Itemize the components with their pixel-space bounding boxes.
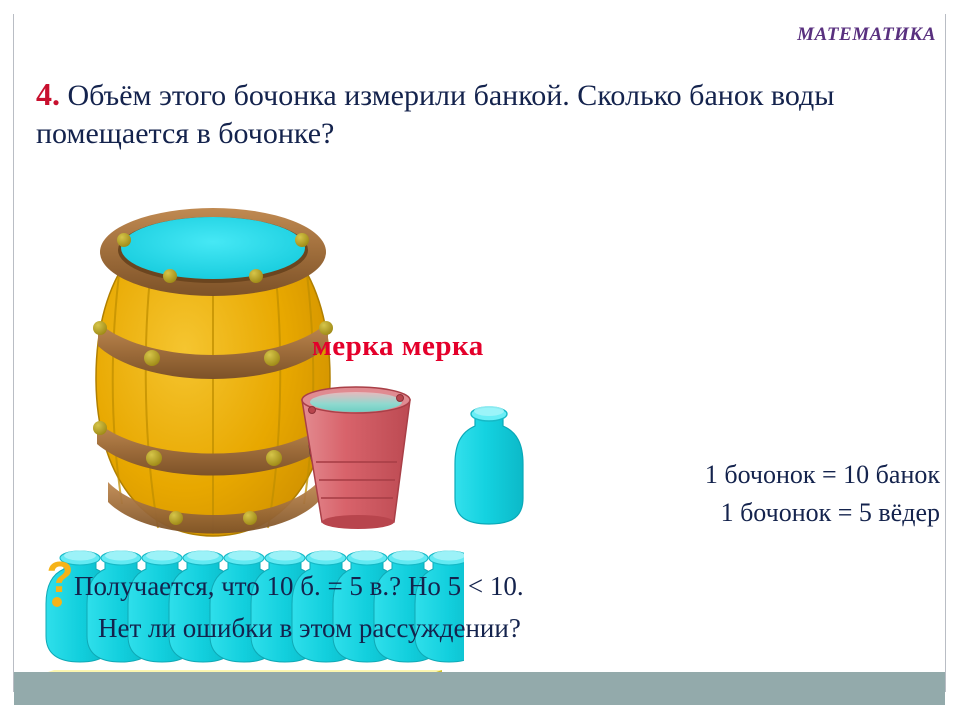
- measure-label: мерка мерка: [312, 330, 484, 363]
- bottom-statement: Получается, что 10 б. = 5 в.? Но 5 < 10.…: [74, 566, 694, 650]
- question-number: 4.: [36, 76, 60, 112]
- question-text: 4. Объём этого бочонка измерили банкой. …: [36, 74, 916, 154]
- slide-border-left: [13, 14, 14, 692]
- page-title: МАТЕМАТИКА: [797, 24, 936, 46]
- jar-icon: [449, 400, 529, 528]
- question-body: Объём этого бочонка измерили банкой. Ско…: [36, 79, 834, 150]
- equation-row: 1 бочонок = 10 банок: [560, 456, 940, 494]
- bucket-icon: [296, 376, 416, 534]
- slide-border-right: [945, 14, 946, 692]
- bottom-statement-line-1: Получается, что 10 б. = 5 в.? Но 5 < 10.: [74, 566, 694, 608]
- equations-block: 1 бочонок = 10 банок 1 бочонок = 5 вёдер: [560, 456, 940, 531]
- svg-text:?: ?: [47, 553, 74, 602]
- footer-band: [14, 672, 945, 705]
- bottom-statement-line-2: Нет ли ошибки в этом рассуждении?: [74, 608, 694, 650]
- slide-canvas: МАТЕМАТИКА 4. Объём этого бочонка измери…: [0, 0, 960, 720]
- equation-row: 1 бочонок = 5 вёдер: [560, 494, 940, 532]
